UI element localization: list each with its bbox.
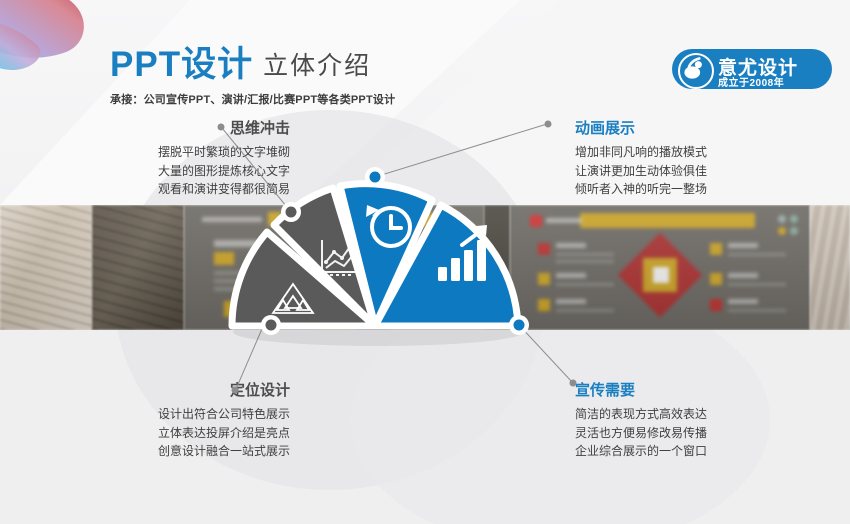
slide-canvas: PPT设计立体介绍 承接：公司宣传PPT、演讲/汇报/比赛PPT等各类PPT设计… bbox=[0, 0, 850, 524]
connector-enddot-top-left bbox=[218, 124, 224, 130]
connector-enddot-top-right bbox=[545, 121, 551, 127]
node-bottom-right-inner bbox=[514, 320, 525, 331]
connector-line-top-right bbox=[375, 124, 547, 177]
node-top-left-inner bbox=[286, 207, 297, 218]
connector-line-bottom-right bbox=[519, 325, 572, 382]
node-top-right-inner bbox=[370, 172, 381, 183]
connector-enddot-bottom-right bbox=[570, 380, 576, 386]
semicircle-fan-diagram bbox=[0, 0, 850, 524]
connector-enddot-bottom-left bbox=[232, 387, 238, 393]
node-bottom-left-inner bbox=[266, 320, 277, 331]
connector-line-top-left bbox=[222, 128, 291, 212]
